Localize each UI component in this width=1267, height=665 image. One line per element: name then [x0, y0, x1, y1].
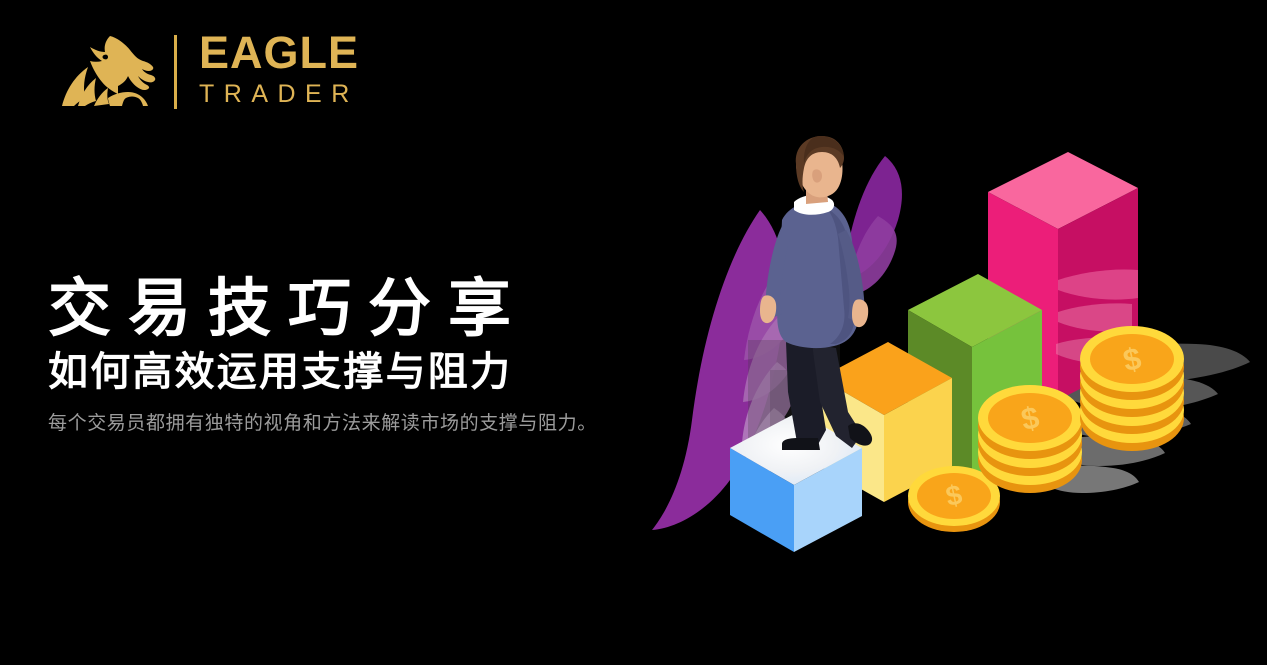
- page-subtitle: 如何高效运用支撑与阻力: [48, 349, 597, 396]
- isometric-chart-illustration: $ $: [630, 130, 1255, 570]
- page-title: 交易技巧分享: [48, 276, 597, 343]
- brand-logo[interactable]: EAGLE TRADER: [48, 28, 359, 116]
- promo-banner: EAGLE TRADER 交易技巧分享 如何高效运用支撑与阻力 每个交易员都拥有…: [0, 0, 1267, 665]
- logo-primary-text: EAGLE: [199, 31, 359, 74]
- coin-stack-short: $: [978, 385, 1082, 493]
- coin-stack-tall: $: [1080, 326, 1184, 451]
- hero-text-block: 交易技巧分享 如何高效运用支撑与阻力 每个交易员都拥有独特的视角和方法来解读市场…: [48, 276, 597, 438]
- hero-illustration: $ $: [630, 130, 1255, 570]
- logo-divider: [174, 35, 177, 109]
- eagle-head-logo-icon: [48, 28, 166, 116]
- logo-secondary-text: TRADER: [199, 76, 359, 114]
- logo-wordmark: EAGLE TRADER: [199, 31, 359, 114]
- page-description: 每个交易员都拥有独特的视角和方法来解读市场的支撑与阻力。: [48, 411, 597, 438]
